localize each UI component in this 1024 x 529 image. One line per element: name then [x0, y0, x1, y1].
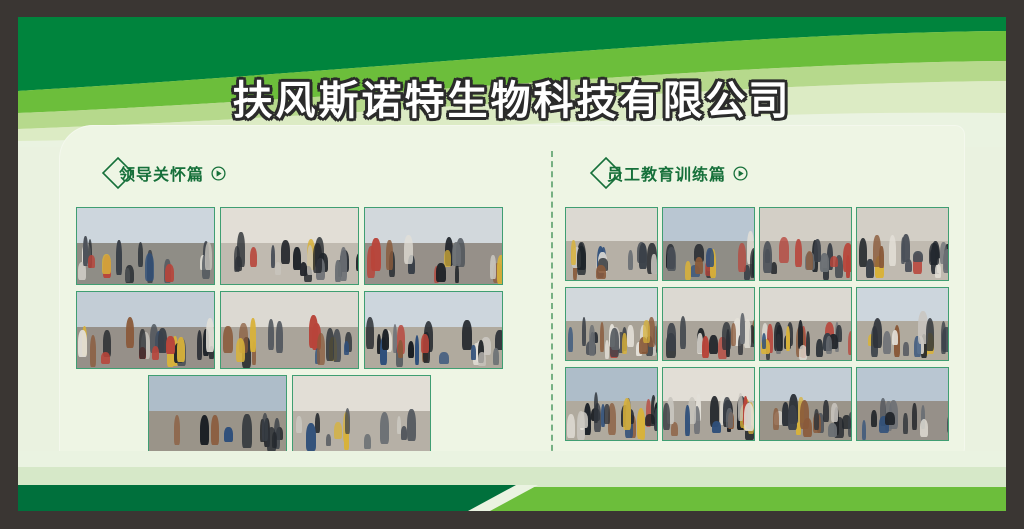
photo-figures	[221, 208, 358, 284]
photo-figures	[760, 368, 851, 440]
photo-figures	[760, 208, 851, 280]
photo-image	[365, 208, 502, 284]
photo-tile[interactable]	[856, 287, 949, 361]
photo-figures	[149, 376, 286, 452]
photo-figures	[365, 208, 502, 284]
photo-figures	[77, 292, 214, 368]
photo-figures	[566, 208, 657, 280]
photo-tile[interactable]	[565, 207, 658, 281]
poster-canvas: 扶风斯诺特生物科技有限公司 领导关怀篇	[18, 17, 1006, 511]
section-divider	[551, 151, 553, 461]
section-label-staff-training: 员工教育训练篇	[607, 161, 726, 185]
photo-tile[interactable]	[662, 287, 755, 361]
photo-tile[interactable]	[856, 367, 949, 441]
photo-image	[365, 292, 502, 368]
photo-figures	[857, 208, 948, 280]
photo-tile[interactable]	[220, 291, 359, 369]
photo-image	[221, 208, 358, 284]
photo-tile[interactable]	[759, 287, 852, 361]
footer-wave-graphic	[18, 451, 1006, 511]
photo-tile[interactable]	[565, 287, 658, 361]
photo-figures	[293, 376, 430, 452]
photo-figures	[663, 368, 754, 440]
photo-image	[760, 208, 851, 280]
photo-tile[interactable]	[662, 207, 755, 281]
play-circle-icon[interactable]	[733, 166, 748, 181]
content-panel: 领导关怀篇 员工教育训练篇	[59, 125, 965, 480]
photo-image	[857, 208, 948, 280]
photo-image	[760, 288, 851, 360]
photo-image	[760, 368, 851, 440]
photo-image	[566, 208, 657, 280]
photo-image	[663, 208, 754, 280]
photo-tile[interactable]	[856, 207, 949, 281]
photo-tile[interactable]	[76, 207, 215, 285]
photo-tile[interactable]	[759, 207, 852, 281]
section-header-leadership-care: 领导关怀篇	[101, 155, 226, 191]
photo-image	[857, 288, 948, 360]
photo-figures	[566, 368, 657, 440]
photo-tile[interactable]	[76, 291, 215, 369]
photo-figures	[77, 208, 214, 284]
photo-tile[interactable]	[292, 375, 431, 453]
photo-tile[interactable]	[759, 367, 852, 441]
photo-figures	[663, 208, 754, 280]
section-label-leadership-care: 领导关怀篇	[119, 161, 204, 185]
photo-figures	[566, 288, 657, 360]
photo-image	[293, 376, 430, 452]
photo-image	[149, 376, 286, 452]
photo-figures	[221, 292, 358, 368]
photo-tile[interactable]	[662, 367, 755, 441]
photo-image	[566, 368, 657, 440]
photo-image	[77, 292, 214, 368]
photo-figures	[857, 368, 948, 440]
culture-board: 扶风斯诺特生物科技有限公司 领导关怀篇	[0, 0, 1024, 529]
photo-figures	[663, 288, 754, 360]
photo-tile[interactable]	[220, 207, 359, 285]
page-title: 扶风斯诺特生物科技有限公司	[18, 68, 1006, 126]
play-circle-icon[interactable]	[211, 166, 226, 181]
photo-figures	[760, 288, 851, 360]
photo-image	[77, 208, 214, 284]
photo-tile[interactable]	[148, 375, 287, 453]
photo-image	[221, 292, 358, 368]
photo-tile[interactable]	[364, 207, 503, 285]
photo-figures	[857, 288, 948, 360]
photo-image	[663, 368, 754, 440]
photo-tile[interactable]	[364, 291, 503, 369]
photo-image	[857, 368, 948, 440]
photo-tile[interactable]	[565, 367, 658, 441]
photo-image	[663, 288, 754, 360]
section-header-staff-training: 员工教育训练篇	[589, 155, 748, 191]
photo-figures	[365, 292, 502, 368]
footer-wave-banner	[18, 451, 1006, 511]
photo-image	[566, 288, 657, 360]
